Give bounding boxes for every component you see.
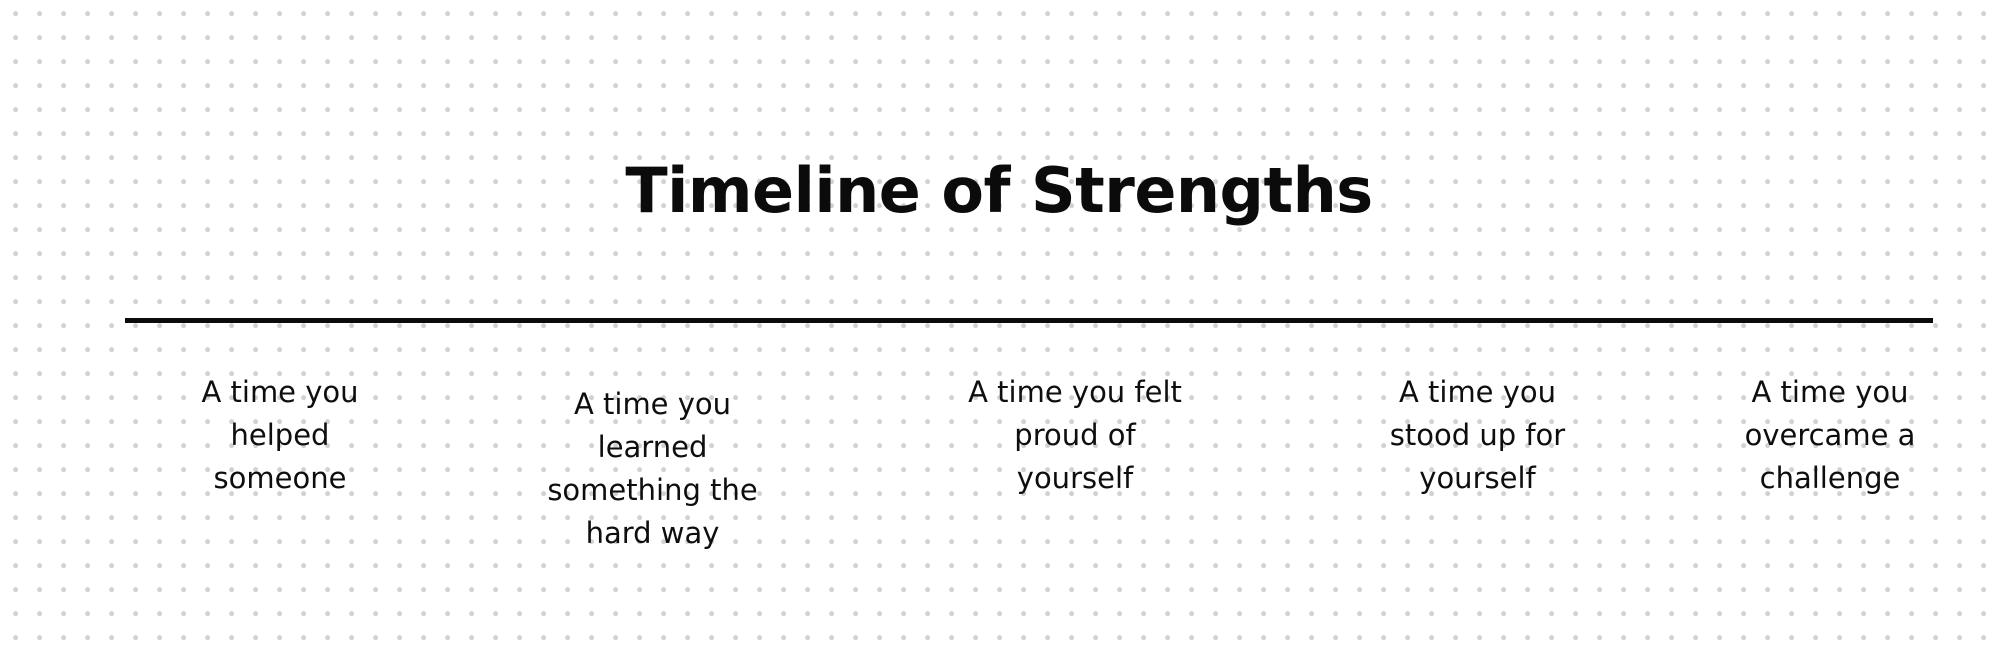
milestone-label: A time you overcame a challenge [1720,371,1940,500]
milestone-label: A time you learned something the hard wa… [545,383,760,555]
milestone-label: A time you felt proud of yourself [955,371,1195,500]
milestone-item[interactable]: A time you overcame a challenge [1720,371,1940,500]
page-title: Timeline of Strengths [0,155,1998,227]
milestone-label: A time you helped someone [180,371,380,500]
milestone-item[interactable]: A time you stood up for yourself [1375,371,1580,500]
timeline-canvas: Timeline of Strengths A time you helped … [0,0,1998,646]
milestone-item[interactable]: A time you helped someone [180,371,380,500]
milestone-item[interactable]: A time you learned something the hard wa… [545,371,760,555]
milestone-list: A time you helped someone A time you lea… [0,371,1998,571]
milestone-label: A time you stood up for yourself [1375,371,1580,500]
timeline-axis-line [125,318,1933,323]
milestone-item[interactable]: A time you felt proud of yourself [955,371,1195,500]
